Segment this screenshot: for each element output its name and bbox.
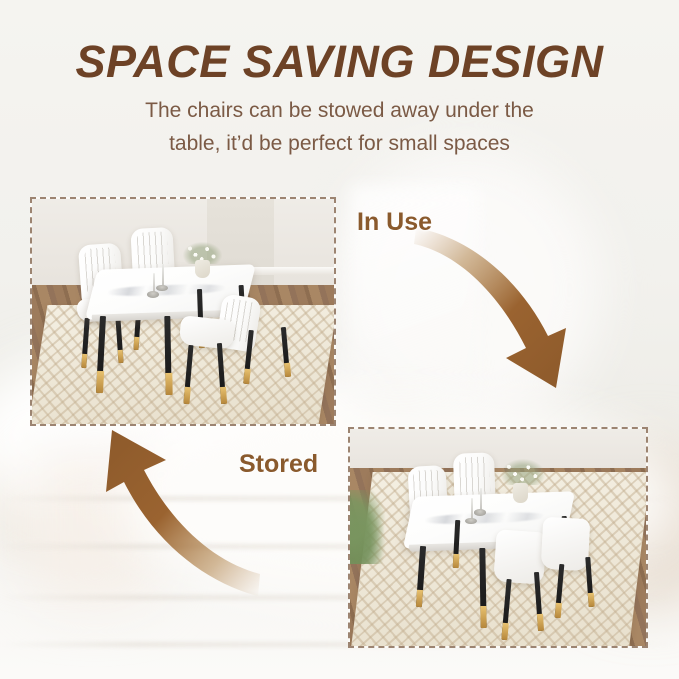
page-subtitle-line-1: The chairs can be stowed away under the [0, 99, 679, 123]
candlestick [162, 264, 164, 287]
vase [195, 260, 210, 278]
label-stored: Stored [239, 450, 318, 479]
photo-stored [348, 427, 648, 648]
page-title: SPACE SAVING DESIGN [0, 36, 679, 88]
image-stage: SPACE SAVING DESIGN The chairs can be st… [0, 0, 679, 679]
flower-arrangement [501, 459, 545, 485]
vase [513, 483, 528, 503]
arrow-stored-to-in-use-icon [90, 420, 260, 600]
candlestick-base [156, 285, 168, 292]
chair-seat-front-right [541, 517, 591, 571]
candlestick [480, 488, 482, 512]
label-in-use: In Use [357, 208, 432, 237]
scene-stored [350, 429, 646, 646]
candlestick-base [474, 509, 486, 516]
photo-in-use [30, 197, 336, 426]
houseplant [350, 490, 391, 564]
candlestick-base [147, 291, 159, 298]
page-subtitle-line-2: table, it’d be perfect for small spaces [0, 132, 679, 156]
table-leg [164, 316, 171, 395]
arrow-in-use-to-stored-icon [414, 210, 594, 400]
scene-in-use [32, 199, 334, 424]
